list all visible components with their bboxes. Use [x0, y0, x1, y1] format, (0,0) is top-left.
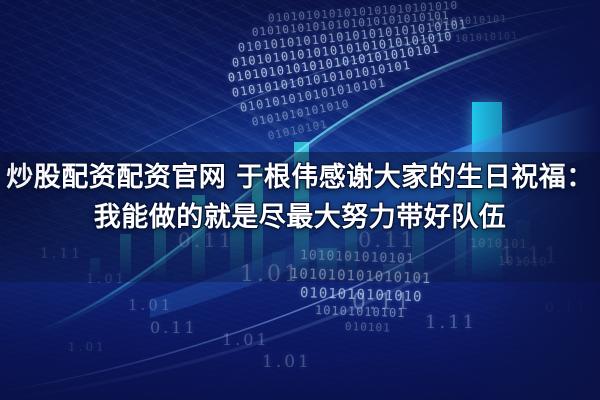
headline-block: 炒股配资配资官网 于根伟感谢大家的生日祝福： 我能做的就是尽最大努力带好队伍 [0, 158, 600, 238]
headline-line-1: 炒股配资配资官网 于根伟感谢大家的生日祝福： [0, 158, 600, 198]
promo-banner: 0101010101010101010101010010101010101010… [0, 0, 600, 400]
headline-line-2: 我能做的就是尽最大努力带好队伍 [0, 198, 600, 238]
